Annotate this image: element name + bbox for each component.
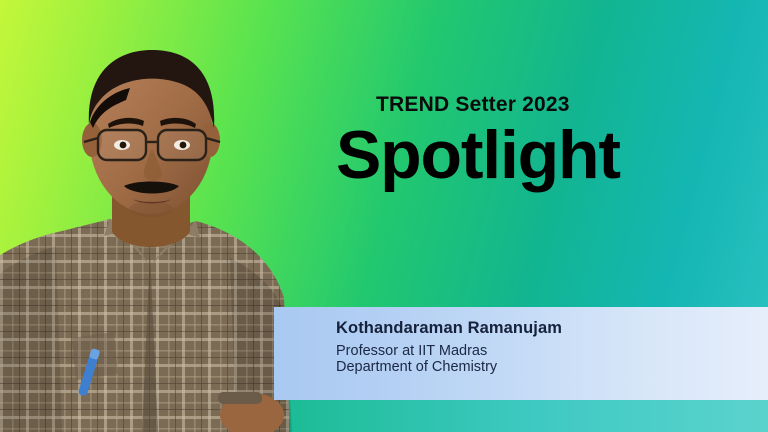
speaker-name: Kothandaraman Ramanujam (336, 319, 562, 338)
speaker-details: Kothandaraman Ramanujam Professor at IIT… (336, 319, 562, 376)
speaker-photo (0, 0, 300, 432)
shirt-shadow-left (0, 246, 62, 432)
speaker-affiliation-line-1: Professor at IIT Madras (336, 343, 562, 360)
pupil-right (180, 142, 187, 149)
pupil-left (120, 142, 127, 149)
speaker-affiliation-line-2: Department of Chemistry (336, 359, 562, 376)
page-title: Spotlight (336, 123, 756, 188)
headline-block: TREND Setter 2023 Spotlight (336, 92, 756, 188)
kicker-text: TREND Setter 2023 (376, 92, 756, 117)
speaker-portrait-illustration (0, 0, 300, 432)
spotlight-poster: TREND Setter 2023 Spotlight Kothandarama… (0, 0, 768, 432)
cuff (218, 392, 262, 404)
speaker-name-banner: Kothandaraman Ramanujam Professor at IIT… (274, 307, 768, 400)
chin-shadow (129, 201, 173, 217)
